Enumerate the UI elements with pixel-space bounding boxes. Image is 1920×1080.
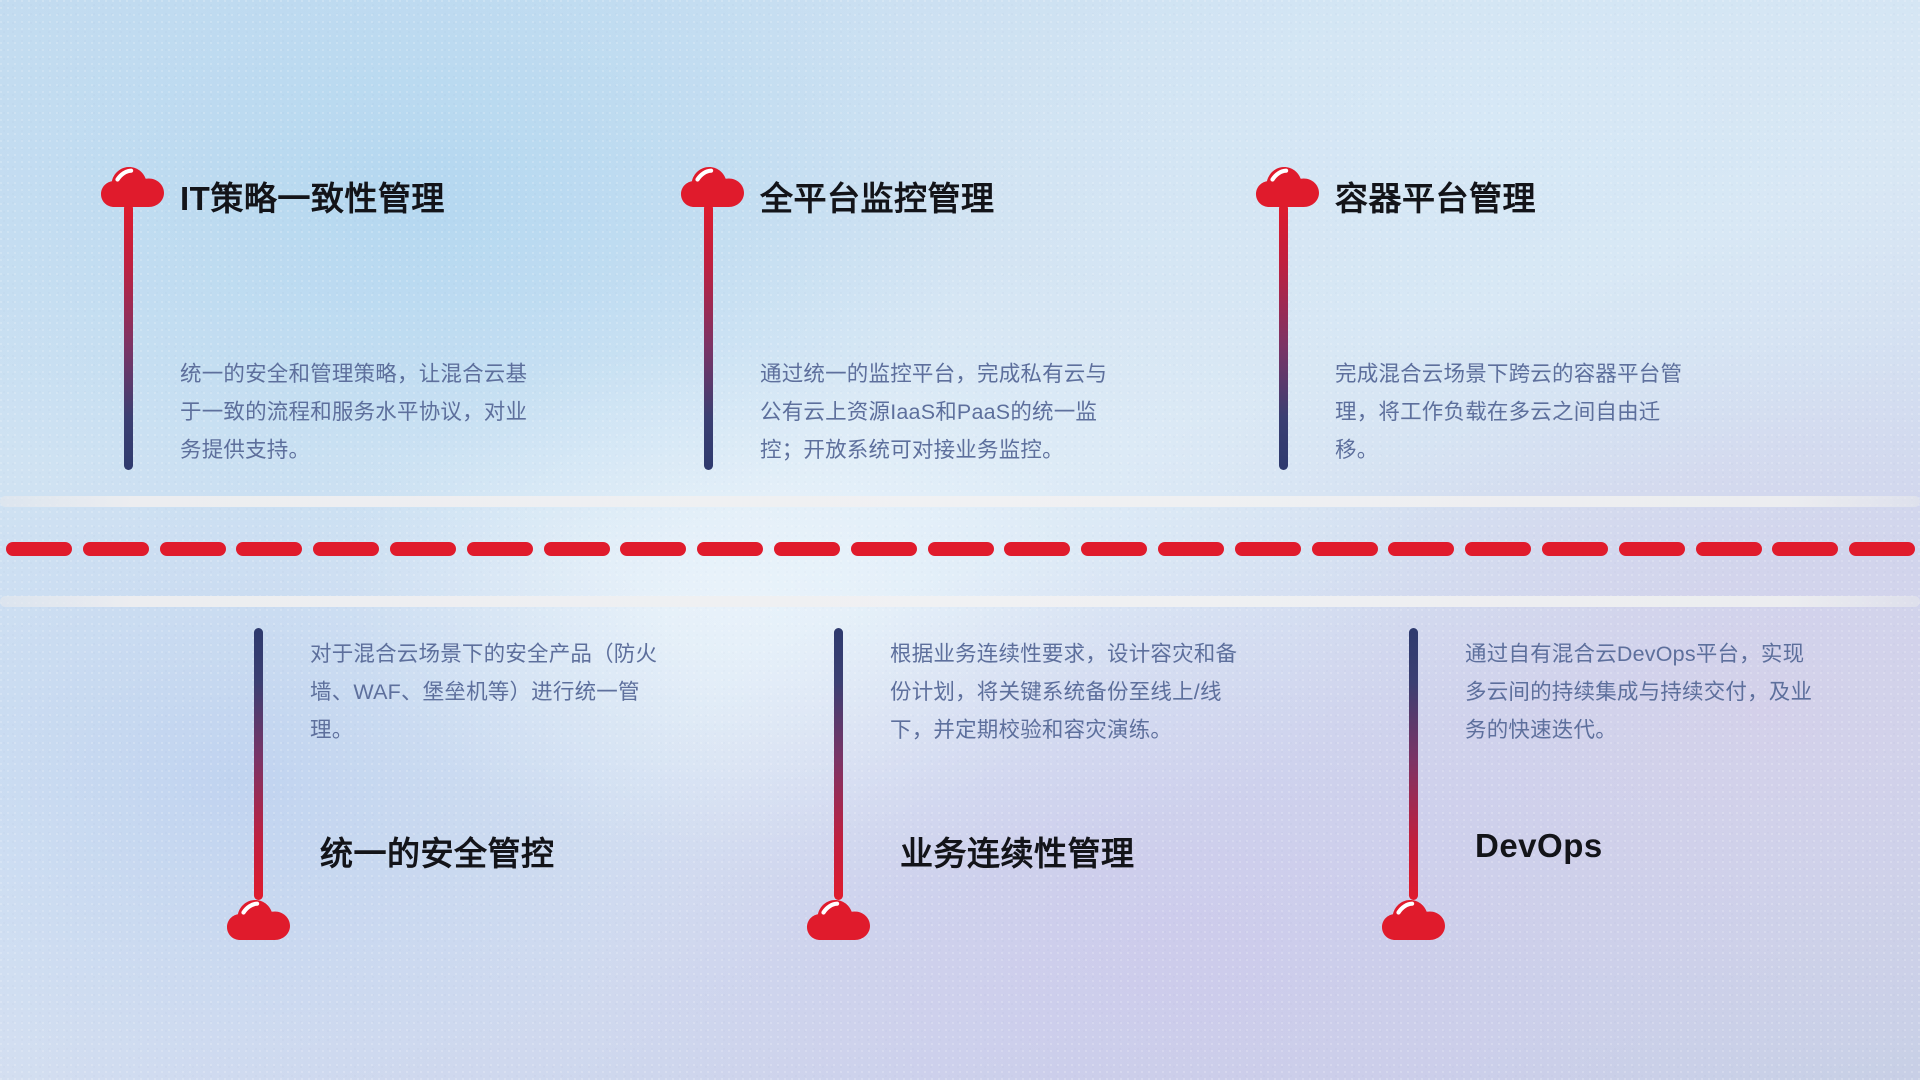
column-heading: 业务连续性管理 <box>900 827 1135 875</box>
road-dash-segment <box>620 542 686 556</box>
cloud-icon <box>1381 893 1447 943</box>
column-heading: 容器平台管理 <box>1335 172 1536 220</box>
road-dash-segment <box>1849 542 1915 556</box>
road-dash-segment <box>1696 542 1762 556</box>
column-heading: DevOps <box>1475 827 1603 865</box>
road-dash-segment <box>1388 542 1454 556</box>
column-heading: 全平台监控管理 <box>760 172 995 220</box>
column-body-text: 通过统一的监控平台，完成私有云与公有云上资源IaaS和PaaS的统一监控；开放系… <box>760 355 1120 469</box>
road-dash-segment <box>1312 542 1378 556</box>
road-dash-segment <box>1081 542 1147 556</box>
road-dash-segment <box>1542 542 1608 556</box>
cloud-icon <box>806 893 872 943</box>
road-dash-segment <box>1772 542 1838 556</box>
column-body-text: 对于混合云场景下的安全产品（防火墙、WAF、堡垒机等）进行统一管理。 <box>310 635 670 749</box>
road-dash-segment <box>1619 542 1685 556</box>
column-body-text: 通过自有混合云DevOps平台，实现多云间的持续集成与持续交付，及业务的快速迭代… <box>1465 635 1825 749</box>
column-body-text: 统一的安全和管理策略，让混合云基于一致的流程和服务水平协议，对业务提供支持。 <box>180 355 540 469</box>
connector-stem <box>1279 204 1288 470</box>
road-dash-segment <box>544 542 610 556</box>
road-dash-segment <box>390 542 456 556</box>
road-dash-segment <box>697 542 763 556</box>
road-rail-top <box>0 496 1920 507</box>
cloud-icon <box>1255 160 1321 210</box>
connector-stem <box>834 628 843 900</box>
road-dash-segment <box>1004 542 1070 556</box>
road-dash-segment <box>83 542 149 556</box>
road-dash-segment <box>928 542 994 556</box>
column-body-text: 完成混合云场景下跨云的容器平台管理，将工作负载在多云之间自由迁移。 <box>1335 355 1695 469</box>
road-dash-segment <box>851 542 917 556</box>
connector-stem <box>1409 628 1418 900</box>
column-heading: 统一的安全管控 <box>320 827 555 875</box>
column-body-text: 根据业务连续性要求，设计容灾和备份计划，将关键系统备份至线上/线下，并定期校验和… <box>890 635 1250 749</box>
road-dash-segment <box>1465 542 1531 556</box>
cloud-icon <box>680 160 746 210</box>
connector-stem <box>254 628 263 900</box>
column-heading: IT策略一致性管理 <box>180 172 445 220</box>
road-center-dashed-line <box>0 542 1920 556</box>
road-dash-segment <box>160 542 226 556</box>
infographic-canvas: IT策略一致性管理 统一的安全和管理策略，让混合云基于一致的流程和服务水平协议，… <box>0 0 1920 1080</box>
road-dash-segment <box>6 542 72 556</box>
road-dash-segment <box>1235 542 1301 556</box>
connector-stem <box>704 204 713 470</box>
road-dash-segment <box>313 542 379 556</box>
road-rail-bottom <box>0 596 1920 607</box>
connector-stem <box>124 204 133 470</box>
road-dash-segment <box>774 542 840 556</box>
road-dash-segment <box>1158 542 1224 556</box>
cloud-icon <box>226 893 292 943</box>
road-dash-segment <box>236 542 302 556</box>
cloud-icon <box>100 160 166 210</box>
road-dash-segment <box>467 542 533 556</box>
